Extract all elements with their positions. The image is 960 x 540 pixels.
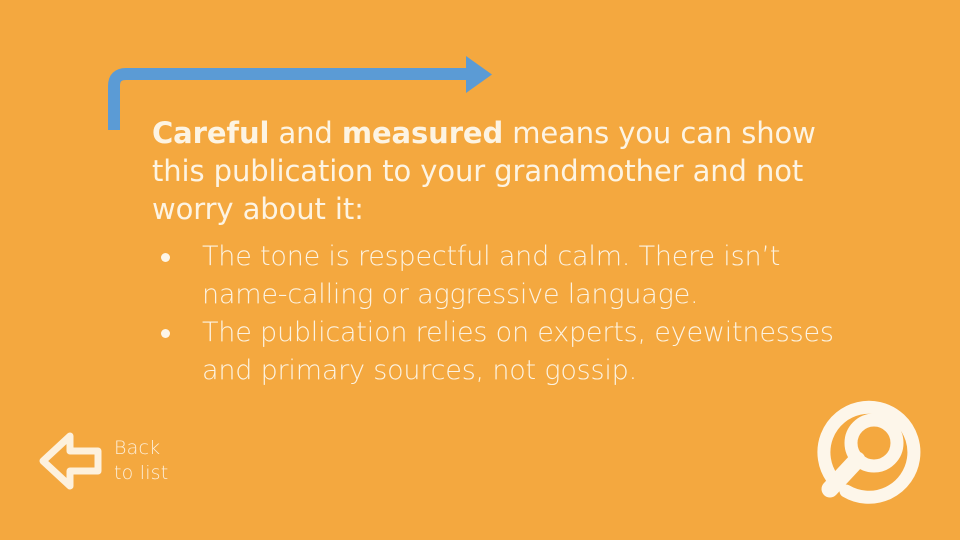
bullet-dot-icon — [161, 329, 170, 338]
bullet-list: The tone is respectful and calm. There i… — [152, 238, 842, 390]
list-item: The publication relies on experts, eyewi… — [152, 314, 842, 390]
bullet-dot-icon — [161, 253, 170, 262]
page-title: Careful and measured means you can show … — [152, 114, 842, 228]
slide-canvas: Careful and measured means you can show … — [0, 0, 960, 540]
magnifier-logo-icon — [808, 386, 940, 512]
heading-bold-careful: Careful — [152, 116, 269, 150]
list-item: The tone is respectful and calm. There i… — [152, 238, 842, 314]
left-arrow-icon[interactable] — [34, 422, 108, 500]
heading-bold-measured: measured — [342, 116, 503, 150]
list-item-label: The publication relies on experts, eyewi… — [202, 317, 834, 386]
heading-plain-and: and — [269, 116, 342, 150]
list-item-label: The tone is respectful and calm. There i… — [202, 241, 780, 310]
back-to-list-button[interactable]: Back to list — [34, 418, 194, 504]
slide-text-block: Careful and measured means you can show … — [152, 114, 842, 390]
back-to-list-label: Back to list — [114, 436, 168, 486]
